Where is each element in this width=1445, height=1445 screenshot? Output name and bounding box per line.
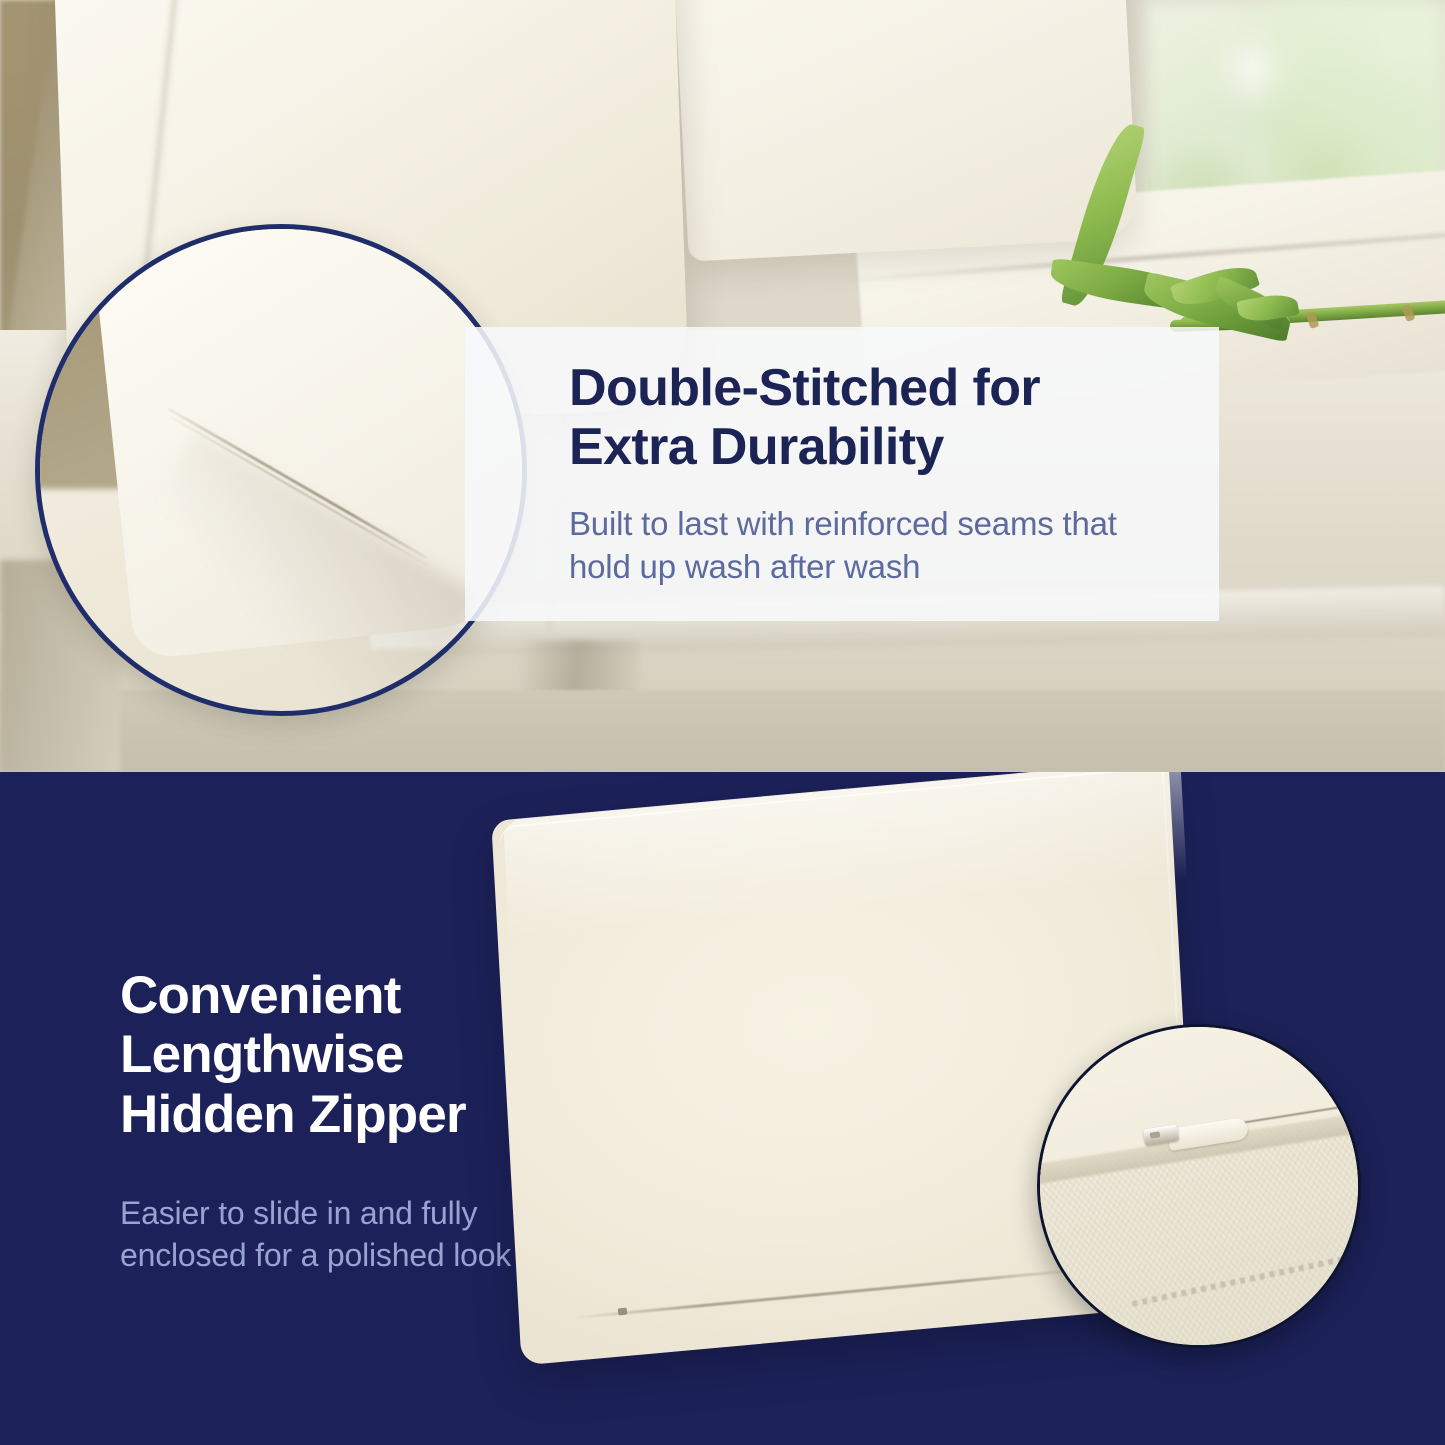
bottom-feature-panel: Convenient Lengthwise Hidden Zipper Easi… xyxy=(0,772,1445,1445)
product-feature-infographic: Double-Stitched for Extra Durability Bui… xyxy=(0,0,1445,1445)
top-feature-panel: Double-Stitched for Extra Durability Bui… xyxy=(0,0,1445,772)
top-subtitle: Built to last with reinforced seams that… xyxy=(569,503,1229,589)
top-text-panel: Double-Stitched for Extra Durability Bui… xyxy=(465,327,1219,621)
top-heading-line1: Double-Stitched for xyxy=(569,359,1169,418)
top-heading-line2: Extra Durability xyxy=(569,418,1169,477)
pillowcase-zipper-pull xyxy=(618,1308,628,1316)
background-pillow xyxy=(672,0,1139,262)
double-stitch-callout-circle xyxy=(35,224,527,716)
top-heading: Double-Stitched for Extra Durability xyxy=(569,359,1169,478)
bottom-heading-line3: Hidden Zipper xyxy=(120,1085,570,1144)
top-subtitle-line1: Built to last with reinforced seams that xyxy=(569,503,1229,546)
hidden-zipper-callout-circle xyxy=(1037,1024,1361,1348)
top-subtitle-line2: hold up wash after wash xyxy=(569,546,1229,589)
